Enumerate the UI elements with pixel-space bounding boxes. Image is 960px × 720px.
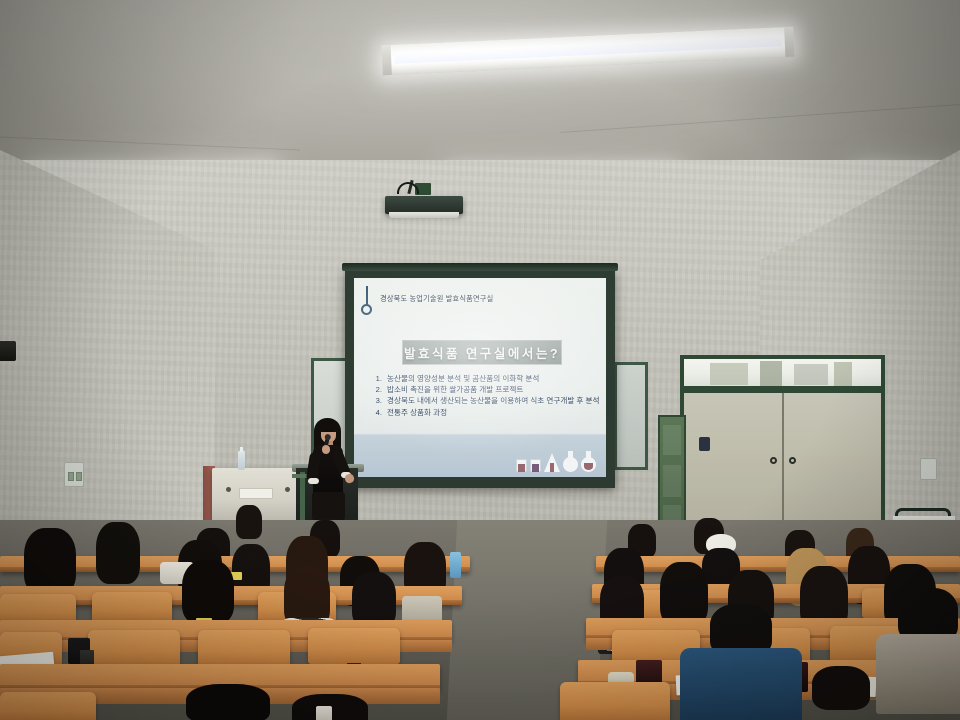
slide-title-text: 발효식품 연구실에서는? <box>404 343 560 362</box>
chair[interactable] <box>92 592 172 622</box>
chair[interactable] <box>198 630 290 666</box>
bullet-number: 1. <box>372 374 382 385</box>
chair[interactable] <box>308 628 400 664</box>
card-reader[interactable] <box>699 437 710 451</box>
slide-title-banner: 발효식품 연구실에서는? <box>402 340 562 365</box>
slide-header-text: 경상북도 농업기술원 발효식품연구실 <box>380 294 493 304</box>
round-flask-icon <box>563 457 578 472</box>
glassware-graphic <box>516 442 596 472</box>
lecture-hall-photo: 경상북도 농업기술원 발효식품연구실 발효식품 연구실에서는? 1. 농산물의 … <box>0 0 960 720</box>
light-switch[interactable] <box>920 458 937 480</box>
slide-bullet-item: 2. 밥소비 촉진을 위한 쌀가공품 개발 프로젝트 <box>372 385 596 396</box>
bullet-text: 경상북도 내에서 생산되는 농산물을 이용하여 식초 연구개발 후 분석 <box>387 396 600 407</box>
water-bottle <box>450 552 461 578</box>
erlenmeyer-flask-icon <box>544 453 560 472</box>
bullet-number: 3. <box>372 396 382 407</box>
slide-bullet-item: 4. 전통주 상품화 과정 <box>372 408 596 419</box>
wall-speaker <box>0 341 16 361</box>
slide-pin-decoration <box>366 286 368 306</box>
specimen-jar-icon <box>516 459 527 472</box>
bullet-text: 밥소비 촉진을 위한 쌀가공품 개발 프로젝트 <box>387 385 523 396</box>
water-bottle <box>238 451 245 470</box>
presentation-slide: 경상북도 농업기술원 발효식품연구실 발효식품 연구실에서는? 1. 농산물의 … <box>354 278 606 477</box>
door-leaf-left[interactable] <box>684 393 782 536</box>
bullet-text: 농산물의 영양성분 분석 및 곰산품의 이화학 분석 <box>387 374 539 385</box>
presenter-skirt <box>312 492 345 522</box>
chair[interactable] <box>0 692 96 720</box>
presenter <box>300 416 362 534</box>
round-flask-icon <box>581 457 596 472</box>
transom-window <box>680 355 885 390</box>
double-door[interactable] <box>680 355 885 540</box>
projector-base <box>389 212 459 218</box>
presenter-hair-front <box>319 421 338 432</box>
transom-view <box>684 359 881 386</box>
presenter-hand <box>344 473 356 485</box>
specimen-jar-icon <box>530 459 541 472</box>
slide-bullet-list: 1. 농산물의 영양성분 분석 및 곰산품의 이화학 분석 2. 밥소비 촉진을… <box>372 374 596 419</box>
slide-bullet-item: 3. 경상북도 내에서 생산되는 농산물을 이용하여 식초 연구개발 후 분석 <box>372 396 596 407</box>
slide-bullet-item: 1. 농산물의 영양성분 분석 및 곰산품의 이화학 분석 <box>372 374 596 385</box>
cabinet-label <box>239 488 273 499</box>
ceiling-projector <box>385 192 463 218</box>
projection-screen: 경상북도 농업기술원 발효식품연구실 발효식품 연구실에서는? 1. 농산물의 … <box>345 270 615 488</box>
chair[interactable] <box>88 630 180 666</box>
door-leaf-right[interactable] <box>782 393 882 536</box>
slide-ring-decoration <box>361 304 372 315</box>
beverage-carton <box>316 706 332 720</box>
presenter-hand <box>322 445 330 454</box>
door-handle[interactable] <box>789 457 796 464</box>
slide-header: 경상북도 농업기술원 발효식품연구실 <box>380 290 596 308</box>
bullet-number: 2. <box>372 385 382 396</box>
light-switch[interactable] <box>64 462 84 487</box>
bullet-text: 전통주 상품화 과정 <box>387 408 447 419</box>
whiteboard-right <box>614 362 648 470</box>
bullet-number: 4. <box>372 408 382 419</box>
chair[interactable] <box>560 682 670 720</box>
door-handle[interactable] <box>770 457 777 464</box>
